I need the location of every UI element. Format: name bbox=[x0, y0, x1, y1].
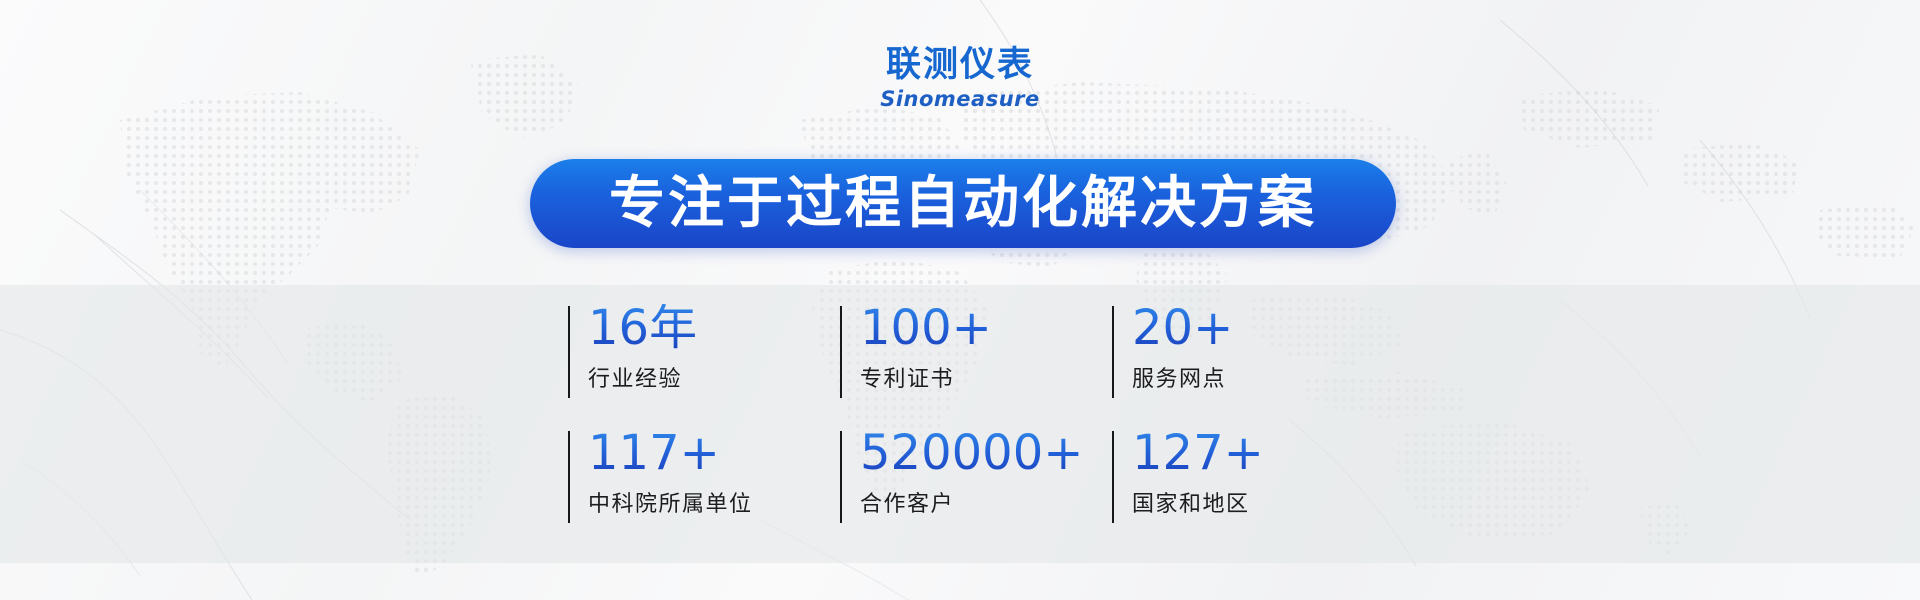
stat-value: 20+ bbox=[1132, 304, 1378, 353]
stat-value: 520000+ bbox=[860, 429, 1112, 478]
logo-chinese-name: 联测仪表 bbox=[0, 48, 1920, 83]
stat-item-service-outlets: 20+ 服务网点 bbox=[1112, 304, 1378, 429]
marketing-banner: 联测仪表 Sinomeasure 专注于过程自动化解决方案 16年 行业经验 1… bbox=[0, 0, 1920, 600]
stat-label: 中科院所属单位 bbox=[588, 486, 840, 518]
stat-value: 127+ bbox=[1132, 429, 1378, 478]
company-logo: 联测仪表 Sinomeasure bbox=[0, 48, 1920, 110]
stat-item-cas-units: 117+ 中科院所属单位 bbox=[568, 429, 840, 554]
stat-value: 16年 bbox=[588, 304, 840, 353]
stat-value: 117+ bbox=[588, 429, 840, 478]
stat-label: 专利证书 bbox=[860, 361, 1112, 393]
stat-item-customers: 520000+ 合作客户 bbox=[840, 429, 1112, 554]
stats-grid: 16年 行业经验 100+ 专利证书 20+ 服务网点 117+ 中科院所属单位… bbox=[568, 304, 1378, 554]
stat-item-patents: 100+ 专利证书 bbox=[840, 304, 1112, 429]
stat-label: 合作客户 bbox=[860, 486, 1112, 518]
headline-text: 专注于过程自动化解决方案 bbox=[609, 176, 1317, 232]
stat-label: 国家和地区 bbox=[1132, 486, 1378, 518]
stat-label: 行业经验 bbox=[588, 361, 840, 393]
stat-item-years: 16年 行业经验 bbox=[568, 304, 840, 429]
stat-item-countries: 127+ 国家和地区 bbox=[1112, 429, 1378, 554]
headline-pill: 专注于过程自动化解决方案 bbox=[530, 159, 1396, 248]
stat-value: 100+ bbox=[860, 304, 1112, 353]
logo-english-name: Sinomeasure bbox=[0, 89, 1920, 110]
stat-label: 服务网点 bbox=[1132, 361, 1378, 393]
